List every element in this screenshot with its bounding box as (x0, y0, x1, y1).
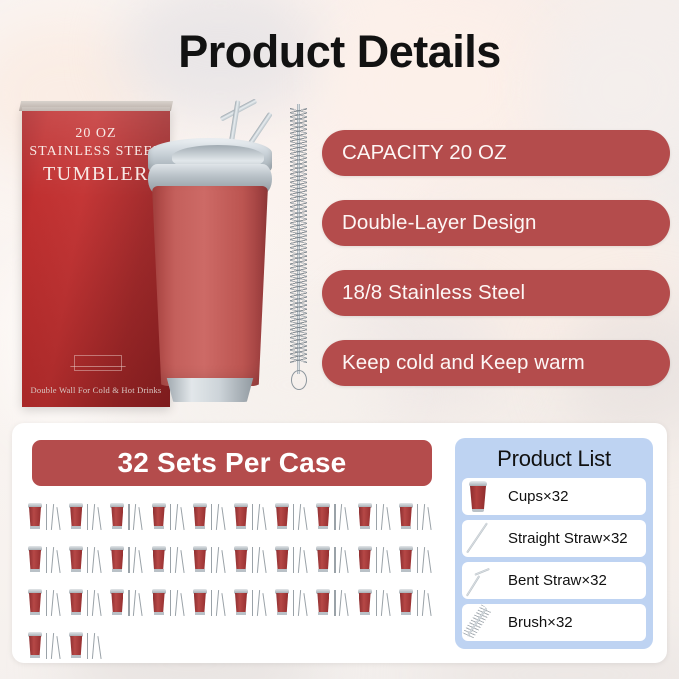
list-item-label: Brush×32 (508, 614, 573, 631)
straight-straw-icon (417, 504, 418, 530)
set-cell (150, 585, 191, 622)
cleaning-brush-icon (98, 593, 102, 616)
product-list-title: Product List (462, 446, 646, 472)
list-item[interactable]: Cups×32 (462, 478, 646, 515)
bent-straw-icon (51, 590, 55, 616)
box-top-flap (19, 101, 173, 111)
cleaning-brush-icon (139, 593, 143, 616)
list-item[interactable]: Brush×32 (462, 604, 646, 641)
bent-straw-icon (456, 560, 498, 600)
straight-straw-icon (87, 504, 88, 530)
feature-list: CAPACITY 20 OZ Double-Layer Design 18/8 … (322, 130, 670, 410)
tumbler-cup-icon (275, 589, 289, 615)
feature-pill-label: Keep cold and Keep warm (342, 351, 585, 375)
straight-straw-icon (334, 504, 335, 530)
tumbler-cup-icon (316, 589, 330, 615)
bent-straw-icon (133, 504, 137, 530)
bent-straw-icon (174, 547, 178, 573)
cleaning-brush-icon (262, 550, 266, 573)
tumbler-cup-icon (456, 476, 498, 516)
set-cell (397, 499, 438, 536)
cleaning-brush-icon (221, 550, 225, 573)
set-cell (26, 499, 67, 536)
bent-straw-icon (422, 590, 426, 616)
list-item-label: Straight Straw×32 (508, 530, 628, 547)
bent-straw-icon (174, 504, 178, 530)
bent-straw-icon (92, 633, 96, 659)
set-cell (108, 542, 149, 579)
bent-straw-icon (216, 504, 220, 530)
cleaning-brush-icon (304, 507, 308, 530)
tumbler-cup-icon (152, 546, 166, 572)
feature-pill-temperature: Keep cold and Keep warm (322, 340, 670, 386)
feature-pill-label: 18/8 Stainless Steel (342, 281, 525, 305)
bent-straw-icon (133, 590, 137, 616)
bent-straw-icon (51, 633, 55, 659)
list-item-label: Cups×32 (508, 488, 568, 505)
cleaning-brush-icon (56, 593, 60, 616)
cleaning-brush-icon (345, 593, 349, 616)
bent-straw-icon (216, 547, 220, 573)
bent-straw-icon (133, 547, 137, 573)
set-cell (191, 585, 232, 622)
set-cell (397, 585, 438, 622)
straight-straw-icon (46, 547, 47, 573)
cleaning-brush-icon (139, 550, 143, 573)
tumbler-cup-icon (316, 503, 330, 529)
cleaning-brush-icon (262, 507, 266, 530)
straight-straw-icon (334, 547, 335, 573)
straight-straw-icon (293, 590, 294, 616)
bent-straw-icon (174, 590, 178, 616)
set-cell (314, 542, 355, 579)
tumbler-cup-icon (275, 546, 289, 572)
set-cell (191, 499, 232, 536)
box-tumbler-outline-icon (52, 217, 144, 367)
tumbler-cup-icon (316, 546, 330, 572)
tumbler-cup-icon (399, 546, 413, 572)
cleaning-brush-icon (386, 507, 390, 530)
tumbler-cup-icon (358, 503, 372, 529)
bent-straw-icon (298, 504, 302, 530)
tumbler-cup-icon (28, 589, 42, 615)
straight-straw-icon (417, 547, 418, 573)
bent-straw-icon (298, 547, 302, 573)
box-tumbler-base-outline-icon (74, 355, 122, 371)
bent-straw-icon (216, 590, 220, 616)
set-cell (232, 585, 273, 622)
straight-straw-icon (252, 547, 253, 573)
tumbler-cup-icon (275, 503, 289, 529)
set-cell (150, 499, 191, 536)
tumbler-cup-icon (110, 589, 124, 615)
bent-straw-icon (422, 547, 426, 573)
set-cell (314, 585, 355, 622)
cleaning-brush-icon (304, 550, 308, 573)
sets-grid (26, 499, 438, 665)
bent-straw-icon (92, 547, 96, 573)
set-cell (314, 499, 355, 536)
tumbler-cup-icon (69, 589, 83, 615)
straight-straw-icon (293, 547, 294, 573)
set-cell (26, 585, 67, 622)
set-cell (108, 499, 149, 536)
cleaning-brush-icon (98, 507, 102, 530)
tumbler-cup-icon (193, 546, 207, 572)
tumbler-cup-icon (193, 589, 207, 615)
straight-straw-icon (417, 590, 418, 616)
bent-straw-icon (51, 547, 55, 573)
brush-bristles (290, 108, 307, 363)
tumbler-cup-icon (234, 589, 248, 615)
product-details-infographic: Product Details 20 OZ STAINLESS STEEL TU… (0, 0, 679, 679)
set-cell (397, 542, 438, 579)
tumbler-cup-icon (152, 589, 166, 615)
product-list-panel: Product List Cups×32 Straight Straw×32 B… (455, 438, 653, 649)
straight-straw-icon (128, 547, 129, 573)
bent-straw-icon (339, 590, 343, 616)
bent-straw-icon (298, 590, 302, 616)
straight-straw-icon (334, 590, 335, 616)
straight-straw-icon (170, 590, 171, 616)
bent-straw-icon (257, 504, 261, 530)
set-cell (191, 542, 232, 579)
straight-straw-icon (252, 590, 253, 616)
set-cell (150, 542, 191, 579)
straight-straw-icon (376, 590, 377, 616)
cleaning-brush-icon (221, 507, 225, 530)
straight-straw-icon (211, 547, 212, 573)
straight-straw-icon (252, 504, 253, 530)
cleaning-brush-icon (221, 593, 225, 616)
straight-straw-icon (170, 547, 171, 573)
brush-handle-loop (291, 370, 307, 390)
straight-straw-icon (46, 504, 47, 530)
cleaning-brush-icon (56, 636, 60, 659)
tumbler-cup-icon (152, 503, 166, 529)
set-cell (273, 585, 314, 622)
tumbler-base (164, 378, 256, 402)
cleaning-brush-icon (427, 507, 431, 530)
packaging-card: 32 Sets Per Case Product List Cups×32 St… (12, 423, 667, 663)
tumbler-cup-icon (358, 589, 372, 615)
straight-straw-icon (376, 547, 377, 573)
bent-straw-icon (92, 504, 96, 530)
tumbler-cup-icon (28, 546, 42, 572)
set-cell (67, 585, 108, 622)
set-cell (108, 585, 149, 622)
bent-straw-icon (380, 590, 384, 616)
list-item[interactable]: Bent Straw×32 (462, 562, 646, 599)
straight-straw-icon (456, 518, 498, 558)
page-title: Product Details (0, 26, 679, 78)
cleaning-brush-icon (386, 550, 390, 573)
feature-pill-label: CAPACITY 20 OZ (342, 141, 507, 165)
set-cell (67, 542, 108, 579)
bent-straw-icon (422, 504, 426, 530)
cleaning-brush-icon (180, 507, 184, 530)
feature-pill-capacity: CAPACITY 20 OZ (322, 130, 670, 176)
cleaning-brush-icon (427, 550, 431, 573)
straight-straw-icon (211, 504, 212, 530)
tumbler-cup-icon (399, 503, 413, 529)
set-cell (356, 542, 397, 579)
tumbler-cup-icon (69, 546, 83, 572)
cleaning-brush-icon (56, 507, 60, 530)
cleaning-brush-photo (286, 104, 312, 396)
feature-pill-double-layer: Double-Layer Design (322, 200, 670, 246)
tumbler-body (152, 186, 268, 386)
tumbler-cup-icon (28, 632, 42, 658)
bent-straw-icon (92, 590, 96, 616)
straight-straw-icon (128, 590, 129, 616)
tumbler-photo (140, 138, 280, 413)
bent-straw-icon (380, 504, 384, 530)
tumbler-cup-icon (358, 546, 372, 572)
set-cell (356, 499, 397, 536)
straight-straw-icon (376, 504, 377, 530)
set-cell (232, 499, 273, 536)
tumbler-cup-icon (234, 503, 248, 529)
feature-pill-stainless-steel: 18/8 Stainless Steel (322, 270, 670, 316)
set-cell (273, 542, 314, 579)
tumbler-cup-icon (399, 589, 413, 615)
tumbler-cup-icon (110, 546, 124, 572)
cleaning-brush-icon (180, 593, 184, 616)
cleaning-brush-icon (98, 636, 102, 659)
set-cell (273, 499, 314, 536)
set-cell (26, 542, 67, 579)
bent-straw-icon (339, 547, 343, 573)
straight-straw-icon (128, 504, 129, 530)
bent-straw-icon (51, 504, 55, 530)
sets-per-case-banner: 32 Sets Per Case (32, 440, 432, 486)
straight-straw-icon (87, 547, 88, 573)
list-item[interactable]: Straight Straw×32 (462, 520, 646, 557)
straight-straw-icon (293, 504, 294, 530)
straight-straw-icon (87, 633, 88, 659)
list-item-label: Bent Straw×32 (508, 572, 607, 589)
cleaning-brush-icon (345, 507, 349, 530)
cleaning-brush-icon (304, 593, 308, 616)
cleaning-brush-icon (345, 550, 349, 573)
cleaning-brush-icon (427, 593, 431, 616)
cleaning-brush-icon (456, 602, 498, 642)
cleaning-brush-icon (98, 550, 102, 573)
sets-per-case-label: 32 Sets Per Case (118, 447, 347, 479)
straight-straw-icon (211, 590, 212, 616)
tumbler-cup-icon (28, 503, 42, 529)
cleaning-brush-icon (262, 593, 266, 616)
feature-pill-label: Double-Layer Design (342, 211, 536, 235)
straight-straw-icon (87, 590, 88, 616)
tumbler-cup-icon (69, 503, 83, 529)
set-cell (67, 499, 108, 536)
straight-straw-icon (46, 633, 47, 659)
tumbler-cup-icon (69, 632, 83, 658)
set-cell (67, 628, 108, 665)
set-cell (26, 628, 67, 665)
cleaning-brush-icon (56, 550, 60, 573)
bent-straw-icon (257, 590, 261, 616)
set-cell (232, 542, 273, 579)
straight-straw-icon (170, 504, 171, 530)
bent-straw-icon (257, 547, 261, 573)
cleaning-brush-icon (139, 507, 143, 530)
straight-straw-icon (46, 590, 47, 616)
cleaning-brush-icon (180, 550, 184, 573)
bent-straw-icon (339, 504, 343, 530)
tumbler-cup-icon (110, 503, 124, 529)
bent-straw-icon (380, 547, 384, 573)
tumbler-cup-icon (193, 503, 207, 529)
cleaning-brush-icon (386, 593, 390, 616)
set-cell (356, 585, 397, 622)
tumbler-cup-icon (234, 546, 248, 572)
